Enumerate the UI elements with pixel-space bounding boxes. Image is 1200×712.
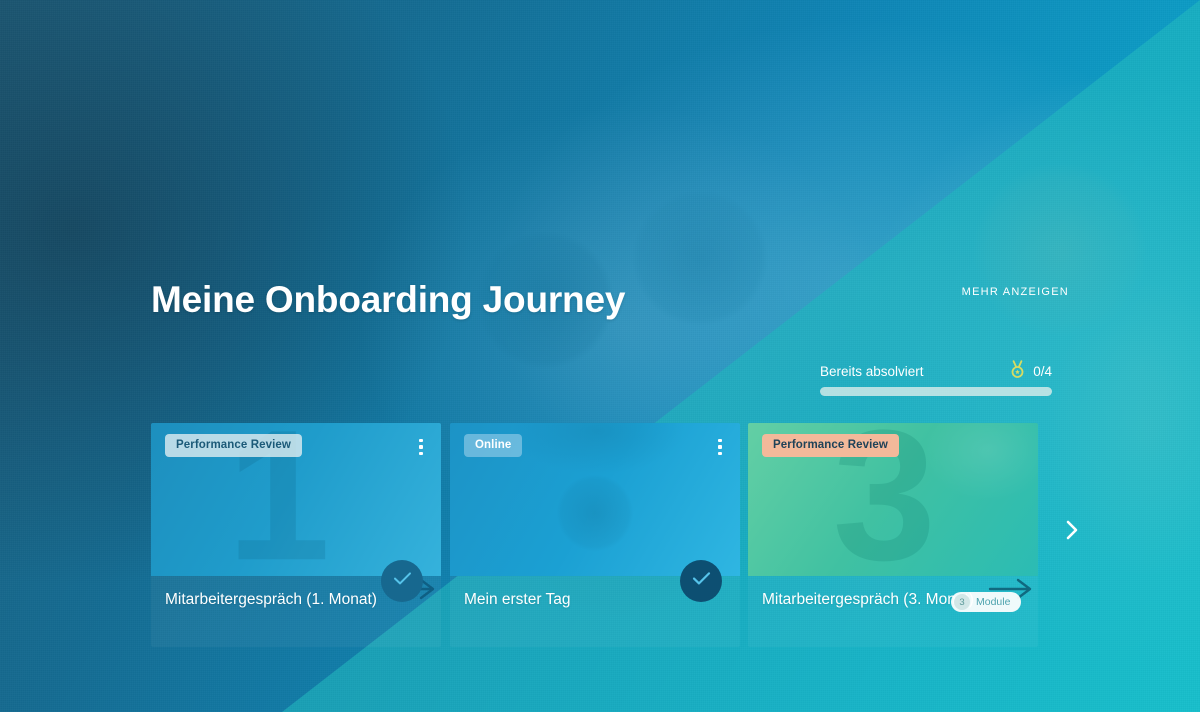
module-count-pill: 3 Module [951, 592, 1021, 612]
card-title: Mein erster Tag [464, 590, 571, 609]
module-label: Module [976, 596, 1010, 608]
check-icon [393, 571, 412, 591]
show-more-link[interactable]: MEHR ANZEIGEN [962, 286, 1069, 298]
card-badge: Performance Review [165, 434, 302, 457]
kebab-menu-icon[interactable] [413, 435, 429, 459]
progress-status: 0/4 [1009, 360, 1052, 383]
module-count: 3 [954, 594, 970, 610]
journey-card-list: 1 Performance Review Mitarbeitergespräch… [151, 423, 1091, 647]
chevron-right-icon[interactable] [1060, 518, 1084, 542]
page-title: Meine Onboarding Journey [151, 279, 625, 321]
kebab-menu-icon[interactable] [712, 435, 728, 459]
progress-panel: Bereits absolviert 0/4 [820, 362, 1052, 396]
progress-bar-track [820, 387, 1052, 396]
card-complete-button[interactable] [381, 560, 423, 602]
journey-card[interactable]: 1 Performance Review Mitarbeitergespräch… [151, 423, 441, 647]
progress-header-row: Bereits absolviert 0/4 [820, 362, 1052, 380]
check-icon [692, 571, 711, 591]
journey-card[interactable]: 3 Performance Review Mitarbeitergespräch… [748, 423, 1038, 647]
journey-card[interactable]: Online Mein erster Tag [450, 423, 740, 647]
card-title: Mitarbeitergespräch (1. Monat) [165, 590, 377, 609]
card-complete-button[interactable] [680, 560, 722, 602]
card-badge: Online [464, 434, 522, 457]
progress-label: Bereits absolviert [820, 364, 924, 379]
progress-count: 0/4 [1033, 364, 1052, 379]
card-badge: Performance Review [762, 434, 899, 457]
card-title: Mitarbeitergespräch (3. Monat) [762, 590, 974, 609]
onboarding-journey-screen: Meine Onboarding Journey MEHR ANZEIGEN B… [0, 0, 1200, 712]
medal-icon [1009, 360, 1026, 383]
